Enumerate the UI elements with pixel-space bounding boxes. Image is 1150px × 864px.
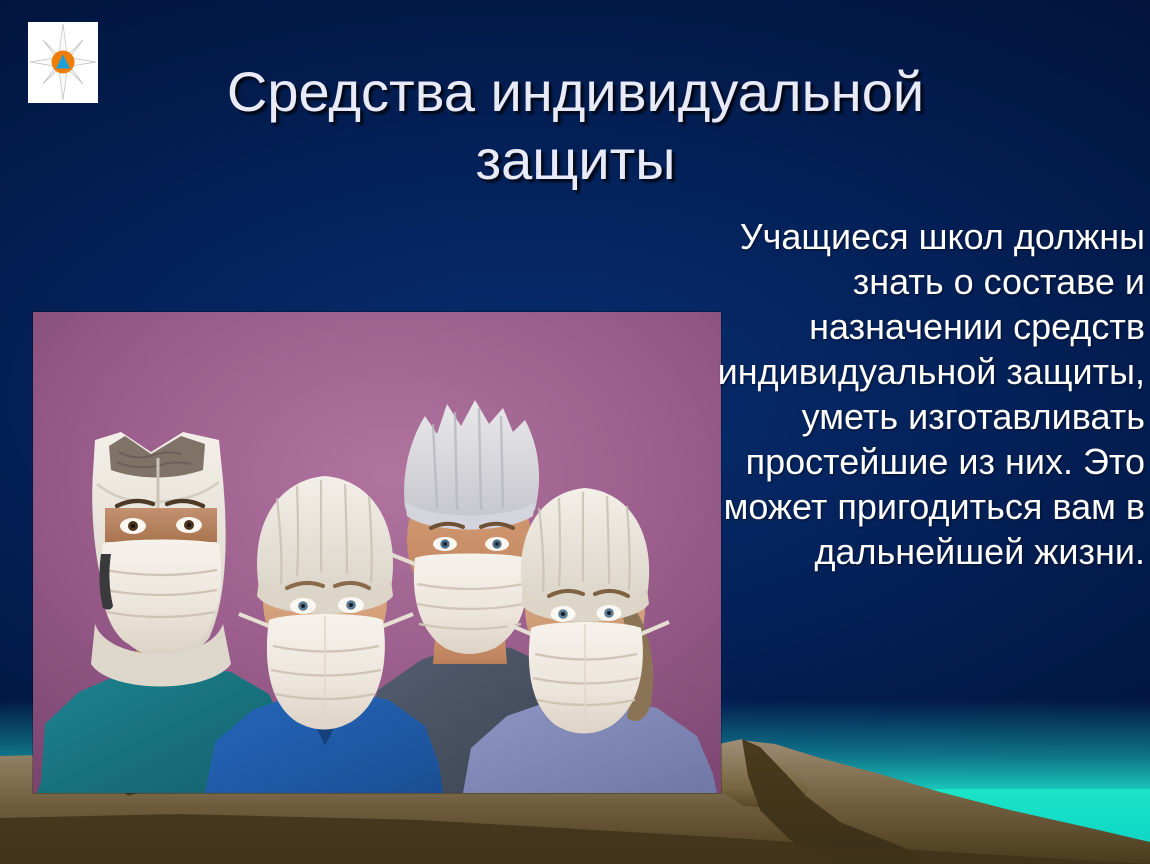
slide-body-text: Учащиеся школ должны знать о составе и н… <box>690 214 1145 574</box>
presentation-slide: Средства индивидуальной защиты <box>0 0 1150 864</box>
emercom-star-logo <box>28 22 98 103</box>
medical-workers-ppe-photo <box>33 312 721 793</box>
page-title: Средства индивидуальной защиты <box>168 58 983 194</box>
